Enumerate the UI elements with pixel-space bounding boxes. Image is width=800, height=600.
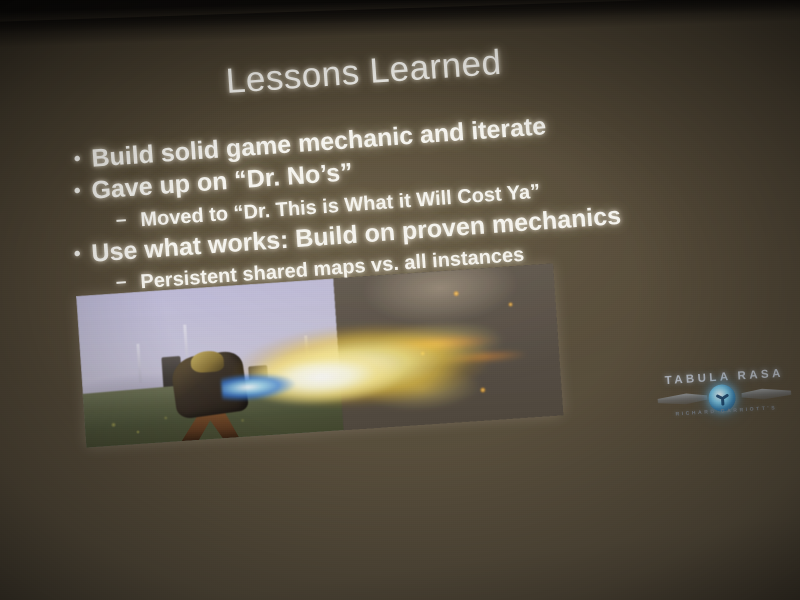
- bullet-dot-icon: •: [73, 181, 81, 203]
- bullet-dash-icon: –: [115, 271, 127, 294]
- spiral-glyph: [715, 391, 730, 406]
- tabula-rasa-logo: TABULA RASA RICHARD GARRIOTT'S: [650, 367, 799, 426]
- projected-slide-photo: Lessons Learned • Build solid game mecha…: [0, 0, 800, 600]
- wing-left-icon: [657, 391, 708, 407]
- slide-content: Lessons Learned • Build solid game mecha…: [0, 0, 800, 600]
- game-screenshot: [76, 263, 563, 447]
- page-title: Lessons Learned: [225, 43, 503, 102]
- projector-softness: [76, 263, 563, 447]
- bullet-dash-icon: –: [115, 209, 127, 232]
- bullet-dot-icon: •: [73, 149, 81, 171]
- wing-right-icon: [741, 386, 792, 402]
- bullet-dot-icon: •: [73, 244, 81, 266]
